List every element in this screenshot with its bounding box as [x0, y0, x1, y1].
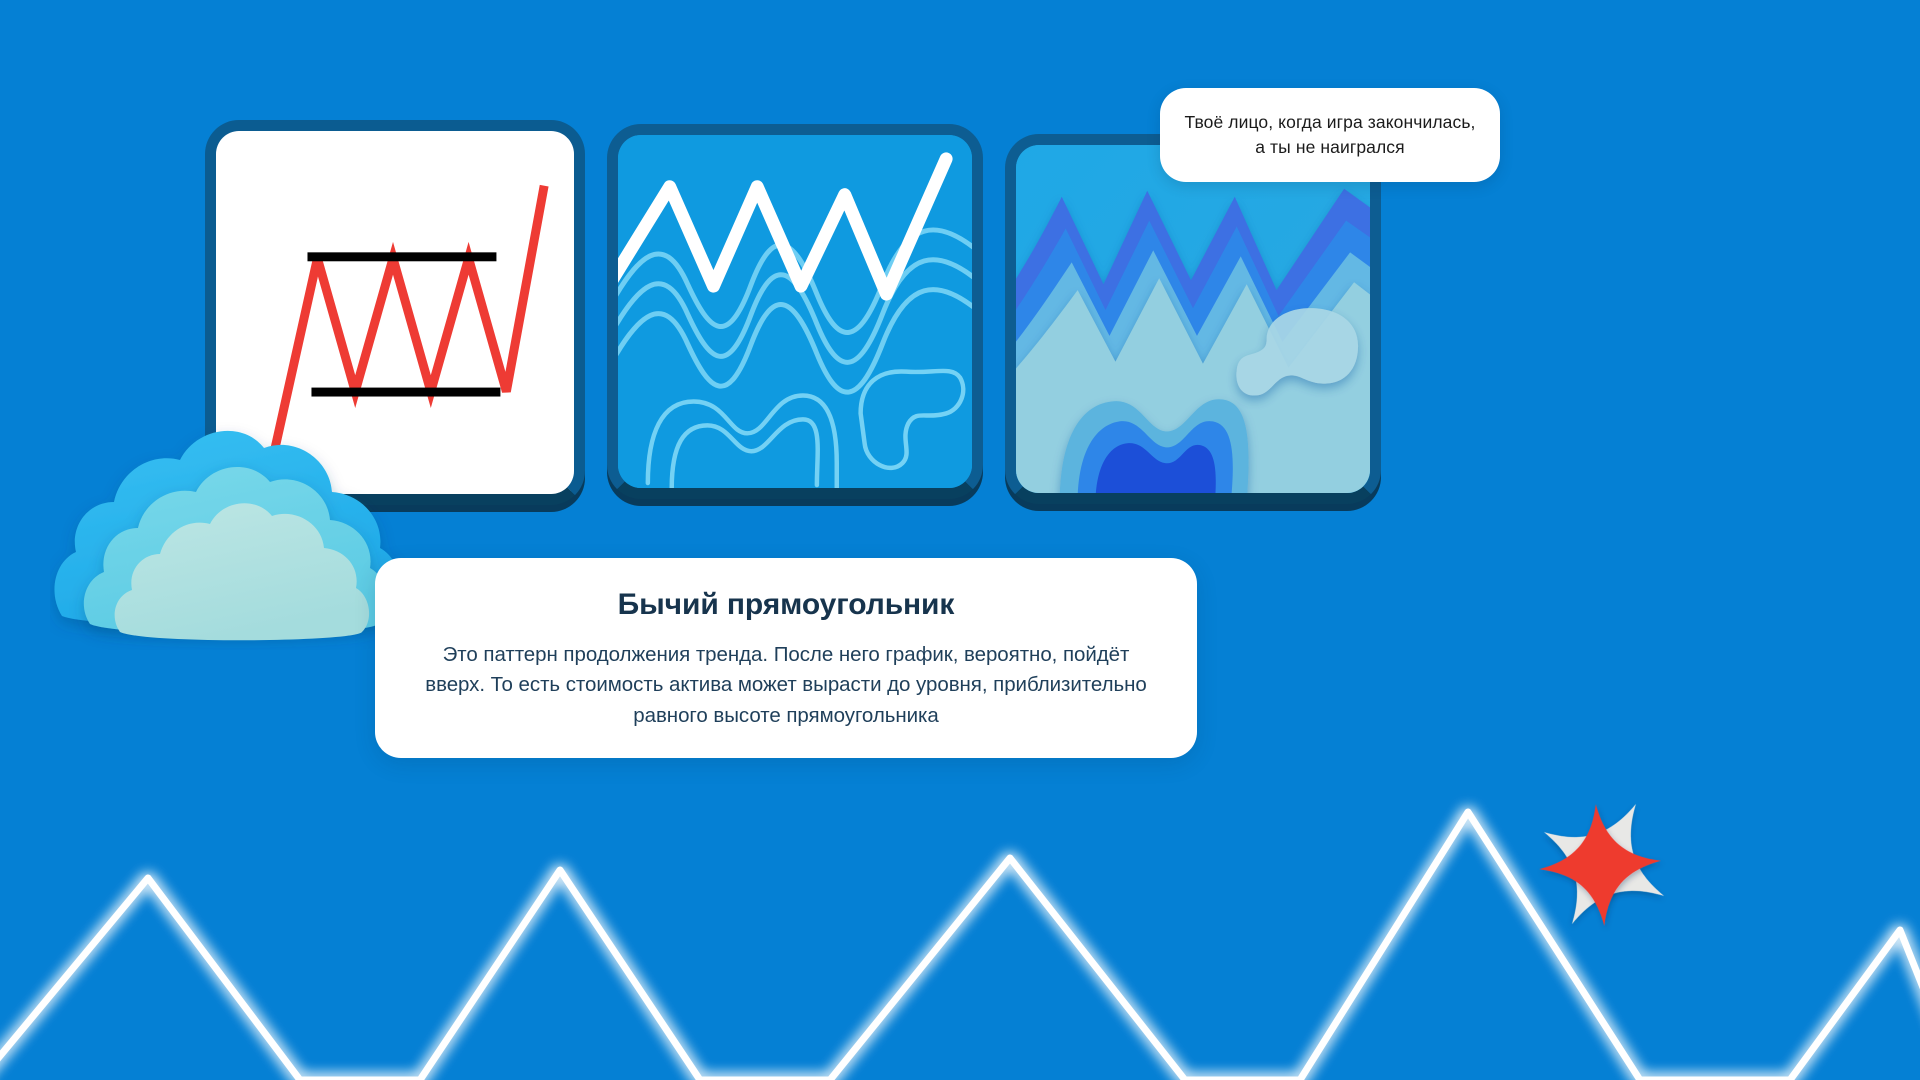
- card-layered-waves[interactable]: [1005, 134, 1381, 504]
- background-mountain-line: [0, 750, 1920, 1080]
- caption-title: Бычий прямоугольник: [415, 588, 1157, 622]
- wave-contour-graphic: [618, 135, 972, 488]
- caption-body: Это паттерн продолжения тренда. После не…: [415, 640, 1157, 731]
- bullish-rectangle-chart: [216, 131, 574, 494]
- support-line: [311, 388, 500, 397]
- card-bullish-rectangle[interactable]: [205, 120, 585, 505]
- speech-bubble-text: Твоё лицо, когда игра закончилась, а ты …: [1184, 110, 1476, 160]
- four-point-star-icon: [1528, 788, 1680, 940]
- speech-bubble[interactable]: Твоё лицо, когда игра закончилась, а ты …: [1160, 88, 1500, 182]
- card-wave-contour[interactable]: [607, 124, 983, 499]
- resistance-line: [307, 252, 496, 261]
- layered-wave-graphic: [1016, 145, 1370, 493]
- caption-card: Бычий прямоугольник Это паттерн продолже…: [375, 558, 1197, 758]
